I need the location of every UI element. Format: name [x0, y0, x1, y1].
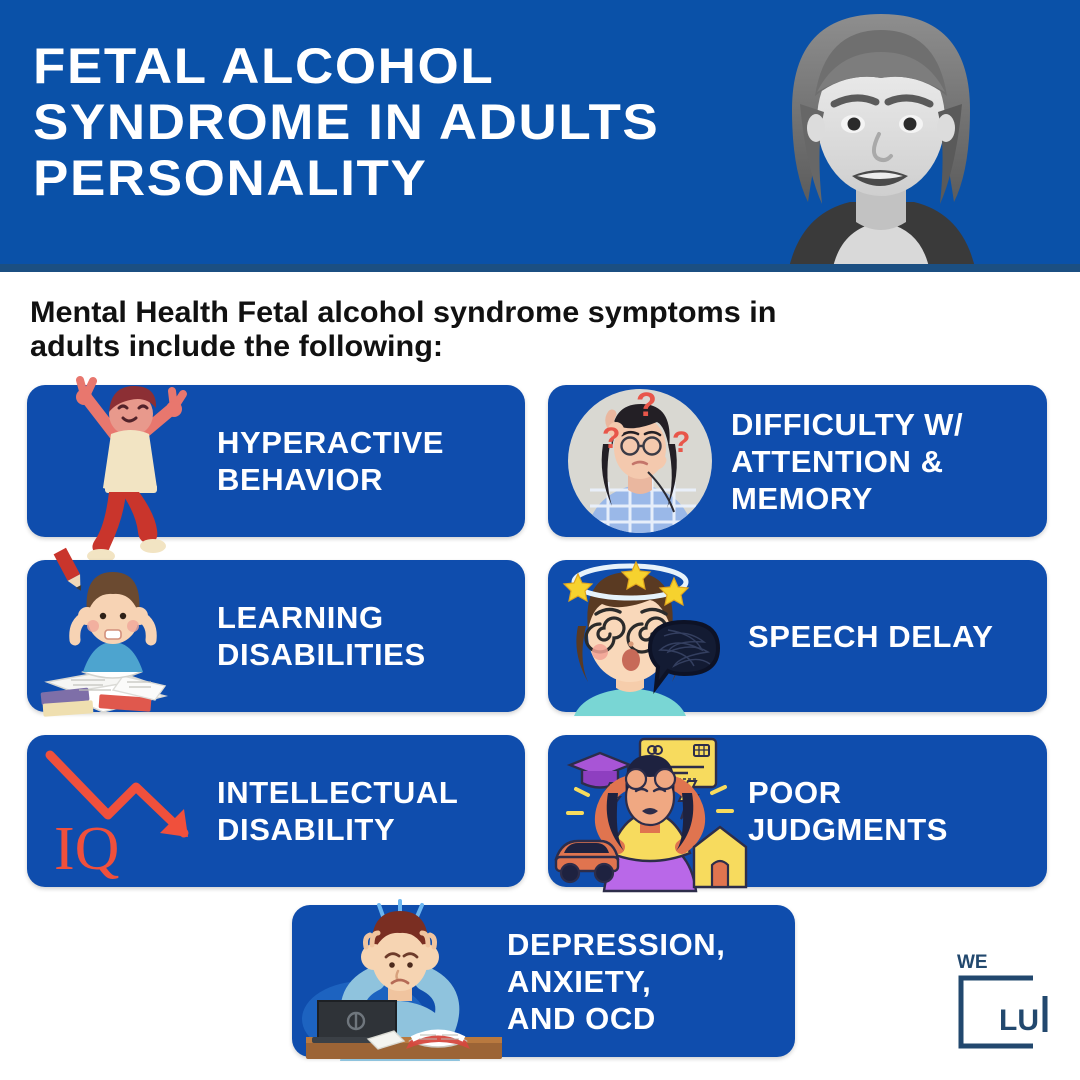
iq-down-arrow-icon: IQ — [27, 735, 217, 887]
card-intellectual-disability[interactable]: IQ INTELLECTUAL DISABILITY — [27, 735, 525, 887]
card-learning-disabilities[interactable]: LEARNING DISABILITIES — [27, 560, 525, 712]
stressed-student-laptop-icon — [292, 905, 507, 1057]
card-depression-anxiety-ocd[interactable]: DEPRESSION, ANXIETY, AND OCD — [292, 905, 795, 1057]
dizzy-face-scribble-bubble-icon — [548, 560, 748, 712]
frustrated-boy-books-icon — [27, 560, 217, 712]
car-icon — [556, 841, 618, 882]
card-label: DIFFICULTY W/ ATTENTION & MEMORY — [731, 406, 963, 517]
card-label: DEPRESSION, ANXIETY, AND OCD — [507, 926, 725, 1037]
card-attention-memory[interactable]: ? ? ? DIFFICULTY W/ ATTENTION & MEMORY — [548, 385, 1047, 537]
card-label: INTELLECTUAL DISABILITY — [217, 774, 458, 848]
infographic-page: FETAL ALCOHOL SYNDROME IN ADULTS PERSONA… — [0, 0, 1080, 1080]
card-poor-judgments[interactable]: POOR JUDGMENTS — [548, 735, 1047, 887]
symptom-card-grid: HYPERACTIVE BEHAVIOR — [0, 0, 1080, 1080]
card-speech-delay[interactable]: SPEECH DELAY — [548, 560, 1047, 712]
iq-label: IQ — [54, 815, 119, 883]
question-mark-icon: ? — [636, 386, 657, 424]
card-label: POOR JUDGMENTS — [748, 774, 948, 848]
card-label: LEARNING DISABILITIES — [217, 599, 426, 673]
question-mark-icon: ? — [672, 426, 690, 459]
card-label: HYPERACTIVE BEHAVIOR — [217, 424, 444, 498]
house-icon — [694, 827, 746, 887]
stressed-woman-decisions-icon — [548, 735, 748, 887]
we-level-up-logo[interactable]: WE LU — [955, 948, 1051, 1052]
card-label: SPEECH DELAY — [748, 618, 994, 655]
logo-we-text: WE — [957, 952, 988, 973]
question-mark-icon: ? — [602, 422, 620, 455]
confused-woman-question-marks-icon: ? ? ? — [548, 385, 731, 537]
card-hyperactive-behavior[interactable]: HYPERACTIVE BEHAVIOR — [27, 385, 525, 537]
logo-lu-text: LU — [999, 1004, 1039, 1037]
jumping-person-icon — [27, 385, 217, 537]
